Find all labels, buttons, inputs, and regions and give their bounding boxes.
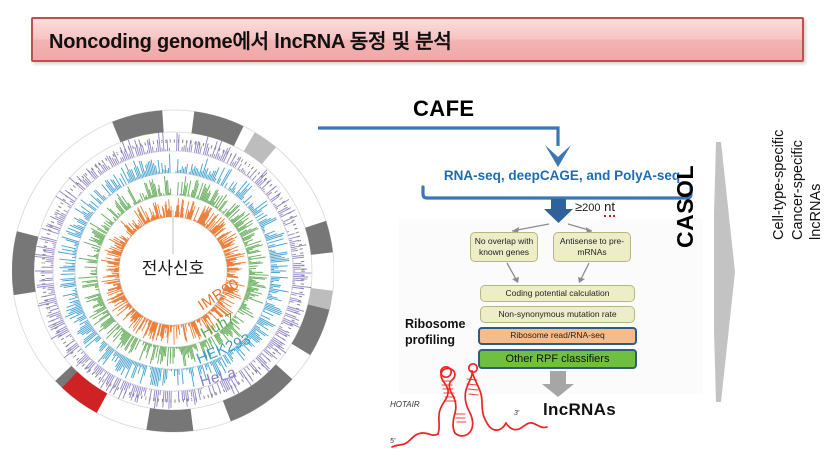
classifier-box-other-rpf[interactable]: Other RPF classifiers bbox=[478, 349, 637, 369]
seq-sources-label: RNA-seq, deepCAGE, and PolyA-seq bbox=[437, 168, 687, 183]
classifier-box-coding-potential[interactable]: Coding potential calculation bbox=[480, 285, 635, 302]
cafe-elbow-line bbox=[318, 128, 558, 146]
output-lncrnas-label: lncRNAs bbox=[543, 400, 616, 420]
seq-sources-bracket bbox=[423, 187, 691, 198]
result-caption-line1: Cell-type-specific bbox=[770, 20, 789, 240]
hotair-name-label: HOTAIR bbox=[390, 400, 420, 409]
result-caption-line3: lncRNAs bbox=[807, 20, 826, 240]
classifier-box-non-synonymous[interactable]: Non-synonymous mutation rate bbox=[480, 306, 635, 323]
length-filter-value: 200 bbox=[582, 202, 600, 214]
casol-heading: CASOL bbox=[672, 138, 699, 248]
result-caption: Cell-type-specific Cancer-specific lncRN… bbox=[770, 20, 826, 240]
ribosome-profiling-line1: Ribosome bbox=[405, 317, 465, 333]
classifier-box-ribosome-read[interactable]: Ribosome read/RNA-seq bbox=[478, 327, 637, 345]
ribosome-profiling-line2: profiling bbox=[405, 333, 465, 349]
circos-plot: 전사신호 IMR90 Huh7 HEK293 HeLa bbox=[12, 82, 334, 460]
length-filter-unit: nt bbox=[604, 199, 615, 217]
circos-center-label: 전사신호 bbox=[12, 254, 334, 279]
ribosome-profiling-label: Ribosome profiling bbox=[405, 317, 465, 348]
five-prime-label: 5' bbox=[390, 438, 395, 445]
length-filter-label: ≥200 nt bbox=[575, 199, 615, 214]
result-caption-line2: Cancer-specific bbox=[789, 20, 808, 240]
slide-canvas: Noncoding genome에서 lncRNA 동정 및 분석 bbox=[0, 0, 838, 470]
cafe-arrowhead-icon bbox=[545, 145, 571, 167]
three-prime-label: 3' bbox=[514, 410, 519, 417]
filter-box-no-overlap[interactable]: No overlap with known genes bbox=[470, 232, 538, 262]
page-title: Noncoding genome에서 lncRNA 동정 및 분석 bbox=[33, 25, 452, 54]
slide-title-banner: Noncoding genome에서 lncRNA 동정 및 분석 bbox=[31, 17, 804, 62]
hotair-structure-labels: HOTAIR 5' 3' bbox=[388, 372, 548, 456]
cafe-heading: CAFE bbox=[413, 96, 475, 122]
filter-box-antisense[interactable]: Antisense to pre-mRNAs bbox=[553, 232, 631, 262]
result-arrow-icon bbox=[712, 140, 768, 404]
